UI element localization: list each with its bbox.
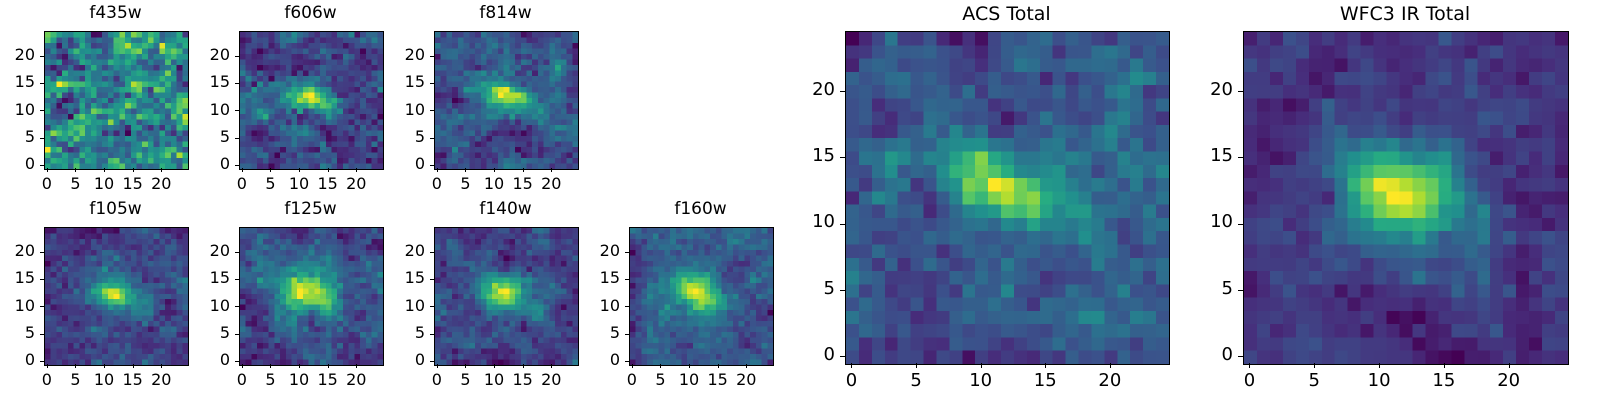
ytick-label-f160w-0: 0 bbox=[509, 352, 620, 368]
ytick-f160w-0 bbox=[625, 361, 629, 362]
ytick-label-f160w-2: 10 bbox=[509, 298, 620, 314]
ytick-label-f140w-3: 15 bbox=[314, 270, 425, 286]
heatmap-axes-acs_total bbox=[845, 31, 1170, 365]
ytick-f435w-0 bbox=[40, 165, 44, 166]
ytick-f105w-3 bbox=[40, 279, 44, 280]
xtick-label-wfc3_ir_total-2: 10 bbox=[1349, 372, 1409, 390]
ytick-wfc3_ir_total-3 bbox=[1238, 157, 1243, 158]
ytick-label-f125w-0: 0 bbox=[119, 352, 230, 368]
ytick-f125w-1 bbox=[235, 334, 239, 335]
ytick-f435w-4 bbox=[40, 56, 44, 57]
xtick-f140w-0 bbox=[437, 364, 438, 368]
xtick-f160w-0 bbox=[632, 364, 633, 368]
ytick-f160w-2 bbox=[625, 306, 629, 307]
ytick-label-f140w-0: 0 bbox=[314, 352, 425, 368]
xtick-label-wfc3_ir_total-3: 15 bbox=[1414, 372, 1474, 390]
ytick-f140w-4 bbox=[430, 252, 434, 253]
ytick-f606w-3 bbox=[235, 83, 239, 84]
ytick-label-wfc3_ir_total-1: 5 bbox=[1123, 280, 1233, 298]
xtick-acs_total-4 bbox=[1110, 363, 1111, 368]
ytick-label-acs_total-3: 15 bbox=[725, 147, 835, 165]
ytick-label-f125w-1: 5 bbox=[119, 325, 230, 341]
ytick-label-f435w-2: 10 bbox=[0, 102, 35, 118]
xtick-wfc3_ir_total-4 bbox=[1509, 363, 1510, 368]
ytick-wfc3_ir_total-1 bbox=[1238, 290, 1243, 291]
xtick-f814w-0 bbox=[437, 168, 438, 172]
ytick-f140w-1 bbox=[430, 334, 434, 335]
ytick-wfc3_ir_total-2 bbox=[1238, 224, 1243, 225]
ytick-label-f160w-4: 20 bbox=[509, 243, 620, 259]
xtick-wfc3_ir_total-3 bbox=[1444, 363, 1445, 368]
ytick-label-wfc3_ir_total-3: 15 bbox=[1123, 147, 1233, 165]
ytick-f814w-2 bbox=[430, 110, 434, 111]
ytick-label-f140w-4: 20 bbox=[314, 243, 425, 259]
xtick-label-acs_total-2: 10 bbox=[951, 372, 1011, 390]
ytick-label-f125w-2: 10 bbox=[119, 298, 230, 314]
xtick-f606w-2 bbox=[299, 168, 300, 172]
panel-acs_total: ACS Total0510152005101520 bbox=[725, 3, 1188, 401]
xtick-f606w-0 bbox=[242, 168, 243, 172]
xtick-f814w-3 bbox=[523, 168, 524, 172]
ytick-f160w-4 bbox=[625, 252, 629, 253]
figure-canvas: f435w0510152005101520f606w05101520051015… bbox=[0, 0, 1600, 400]
ytick-label-f105w-2: 10 bbox=[0, 298, 35, 314]
ytick-label-f140w-1: 5 bbox=[314, 325, 425, 341]
xtick-f140w-1 bbox=[465, 364, 466, 368]
ytick-acs_total-3 bbox=[840, 157, 845, 158]
heatmap-image-f814w bbox=[435, 32, 578, 169]
xtick-acs_total-2 bbox=[981, 363, 982, 368]
ytick-f814w-3 bbox=[430, 83, 434, 84]
xtick-f140w-2 bbox=[494, 364, 495, 368]
xtick-f105w-2 bbox=[104, 364, 105, 368]
xtick-acs_total-3 bbox=[1045, 363, 1046, 368]
panel-title-acs_total: ACS Total bbox=[845, 5, 1168, 24]
ytick-wfc3_ir_total-0 bbox=[1238, 356, 1243, 357]
xtick-label-acs_total-0: 0 bbox=[821, 372, 881, 390]
xtick-acs_total-1 bbox=[916, 363, 917, 368]
xtick-f105w-1 bbox=[75, 364, 76, 368]
ytick-label-f814w-3: 15 bbox=[314, 74, 425, 90]
xtick-f814w-2 bbox=[494, 168, 495, 172]
ytick-label-wfc3_ir_total-4: 20 bbox=[1123, 81, 1233, 99]
ytick-label-acs_total-0: 0 bbox=[725, 346, 835, 364]
xtick-f814w-1 bbox=[465, 168, 466, 172]
heatmap-axes-wfc3_ir_total bbox=[1243, 31, 1569, 365]
ytick-label-f606w-1: 5 bbox=[119, 129, 230, 145]
xtick-f435w-1 bbox=[75, 168, 76, 172]
panel-title-f814w: f814w bbox=[434, 5, 577, 22]
ytick-acs_total-2 bbox=[840, 224, 845, 225]
ytick-f814w-4 bbox=[430, 56, 434, 57]
ytick-f606w-1 bbox=[235, 138, 239, 139]
ytick-label-f105w-0: 0 bbox=[0, 352, 35, 368]
ytick-label-f435w-3: 15 bbox=[0, 74, 35, 90]
ytick-label-f814w-0: 0 bbox=[314, 156, 425, 172]
heatmap-image-acs_total bbox=[846, 32, 1169, 364]
ytick-f160w-1 bbox=[625, 334, 629, 335]
ytick-label-f814w-4: 20 bbox=[314, 47, 425, 63]
ytick-f435w-2 bbox=[40, 110, 44, 111]
ytick-f606w-2 bbox=[235, 110, 239, 111]
ytick-label-acs_total-2: 10 bbox=[725, 213, 835, 231]
panel-title-wfc3_ir_total: WFC3 IR Total bbox=[1243, 5, 1567, 24]
ytick-label-acs_total-4: 20 bbox=[725, 81, 835, 99]
xtick-wfc3_ir_total-2 bbox=[1379, 363, 1380, 368]
ytick-label-f160w-3: 15 bbox=[509, 270, 620, 286]
ytick-f814w-1 bbox=[430, 138, 434, 139]
xtick-f606w-1 bbox=[270, 168, 271, 172]
ytick-label-f606w-2: 10 bbox=[119, 102, 230, 118]
xtick-f160w-2 bbox=[689, 364, 690, 368]
ytick-label-f105w-4: 20 bbox=[0, 243, 35, 259]
xtick-f125w-1 bbox=[270, 364, 271, 368]
xtick-f105w-0 bbox=[47, 364, 48, 368]
ytick-label-f606w-3: 15 bbox=[119, 74, 230, 90]
ytick-f125w-0 bbox=[235, 361, 239, 362]
xtick-wfc3_ir_total-1 bbox=[1314, 363, 1315, 368]
ytick-label-f435w-4: 20 bbox=[0, 47, 35, 63]
ytick-label-f160w-1: 5 bbox=[509, 325, 620, 341]
ytick-acs_total-0 bbox=[840, 356, 845, 357]
ytick-label-f125w-3: 15 bbox=[119, 270, 230, 286]
xtick-f435w-0 bbox=[47, 168, 48, 172]
ytick-label-f435w-1: 5 bbox=[0, 129, 35, 145]
panel-f814w: f814w0510152005101520 bbox=[314, 3, 597, 206]
ytick-label-f606w-4: 20 bbox=[119, 47, 230, 63]
panel-wfc3_ir_total: WFC3 IR Total0510152005101520 bbox=[1123, 3, 1587, 401]
ytick-f125w-4 bbox=[235, 252, 239, 253]
ytick-label-f606w-0: 0 bbox=[119, 156, 230, 172]
xtick-f435w-2 bbox=[104, 168, 105, 172]
ytick-f435w-3 bbox=[40, 83, 44, 84]
ytick-label-f814w-1: 5 bbox=[314, 129, 425, 145]
xtick-label-wfc3_ir_total-4: 20 bbox=[1479, 372, 1539, 390]
ytick-f105w-2 bbox=[40, 306, 44, 307]
ytick-f140w-2 bbox=[430, 306, 434, 307]
ytick-label-f125w-4: 20 bbox=[119, 243, 230, 259]
ytick-label-wfc3_ir_total-0: 0 bbox=[1123, 346, 1233, 364]
ytick-f606w-4 bbox=[235, 56, 239, 57]
xtick-label-acs_total-1: 5 bbox=[886, 372, 946, 390]
heatmap-image-wfc3_ir_total bbox=[1244, 32, 1568, 364]
ytick-label-f435w-0: 0 bbox=[0, 156, 35, 172]
ytick-f125w-3 bbox=[235, 279, 239, 280]
ytick-label-f105w-1: 5 bbox=[0, 325, 35, 341]
xtick-f125w-2 bbox=[299, 364, 300, 368]
ytick-label-wfc3_ir_total-2: 10 bbox=[1123, 213, 1233, 231]
ytick-acs_total-4 bbox=[840, 91, 845, 92]
ytick-f105w-0 bbox=[40, 361, 44, 362]
ytick-f105w-4 bbox=[40, 252, 44, 253]
xtick-label-f814w-4: 20 bbox=[521, 176, 581, 192]
ytick-f140w-0 bbox=[430, 361, 434, 362]
xtick-label-wfc3_ir_total-0: 0 bbox=[1219, 372, 1279, 390]
heatmap-axes-f814w bbox=[434, 31, 579, 170]
xtick-wfc3_ir_total-0 bbox=[1249, 363, 1250, 368]
xtick-f125w-0 bbox=[242, 364, 243, 368]
xtick-f814w-4 bbox=[551, 168, 552, 172]
ytick-acs_total-1 bbox=[840, 290, 845, 291]
xtick-f160w-1 bbox=[660, 364, 661, 368]
ytick-f125w-2 bbox=[235, 306, 239, 307]
ytick-f814w-0 bbox=[430, 165, 434, 166]
ytick-label-acs_total-1: 5 bbox=[725, 280, 835, 298]
ytick-f160w-3 bbox=[625, 279, 629, 280]
xtick-f160w-3 bbox=[718, 364, 719, 368]
ytick-label-f814w-2: 10 bbox=[314, 102, 425, 118]
xtick-label-wfc3_ir_total-1: 5 bbox=[1284, 372, 1344, 390]
ytick-wfc3_ir_total-4 bbox=[1238, 91, 1243, 92]
xtick-label-acs_total-3: 15 bbox=[1015, 372, 1075, 390]
xtick-acs_total-0 bbox=[851, 363, 852, 368]
ytick-label-f105w-3: 15 bbox=[0, 270, 35, 286]
ytick-f606w-0 bbox=[235, 165, 239, 166]
ytick-f140w-3 bbox=[430, 279, 434, 280]
ytick-f435w-1 bbox=[40, 138, 44, 139]
ytick-label-f140w-2: 10 bbox=[314, 298, 425, 314]
ytick-f105w-1 bbox=[40, 334, 44, 335]
